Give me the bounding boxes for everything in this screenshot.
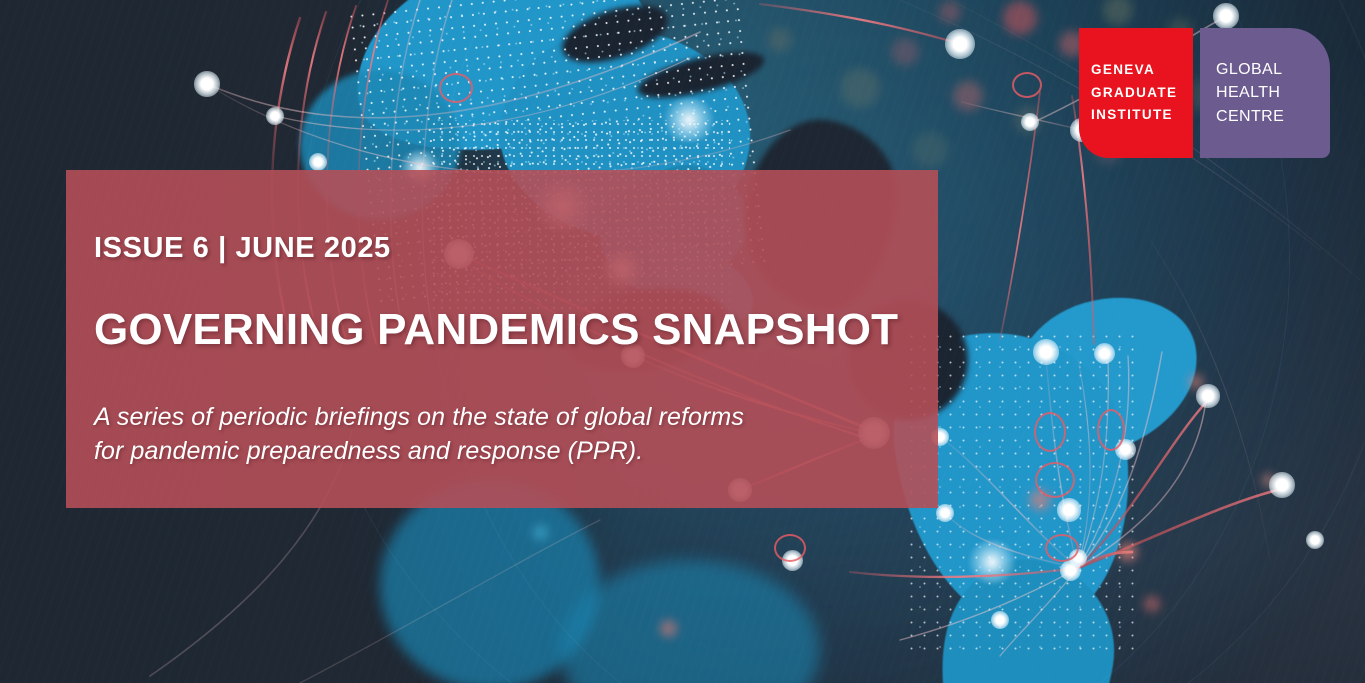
subtitle-line-2: for pandemic preparedness and response (…: [94, 435, 938, 469]
logo-geneva-graduate-institute[interactable]: GENEVA GRADUATE INSTITUTE: [1079, 28, 1193, 158]
cover-banner: ISSUE 6 | JUNE 2025 GOVERNING PANDEMICS …: [0, 0, 1365, 683]
logo-ghc-line-1: GLOBAL: [1216, 58, 1330, 81]
issue-label: ISSUE 6 | JUNE 2025: [94, 232, 938, 265]
subtitle: A series of periodic briefings on the st…: [94, 401, 938, 468]
logo-ggi-line-3: INSTITUTE: [1091, 104, 1193, 126]
logo-lockup[interactable]: GENEVA GRADUATE INSTITUTE GLOBAL HEALTH …: [1079, 28, 1330, 158]
logo-ggi-line-1: GENEVA: [1091, 59, 1193, 81]
logo-ggi-line-2: GRADUATE: [1091, 82, 1193, 104]
page-title: GOVERNING PANDEMICS SNAPSHOT: [94, 305, 938, 355]
logo-global-health-centre[interactable]: GLOBAL HEALTH CENTRE: [1200, 28, 1330, 158]
logo-ghc-line-2: HEALTH: [1216, 81, 1330, 104]
logo-ghc-line-3: CENTRE: [1216, 105, 1330, 128]
title-panel: ISSUE 6 | JUNE 2025 GOVERNING PANDEMICS …: [66, 170, 938, 508]
subtitle-line-1: A series of periodic briefings on the st…: [94, 401, 938, 435]
